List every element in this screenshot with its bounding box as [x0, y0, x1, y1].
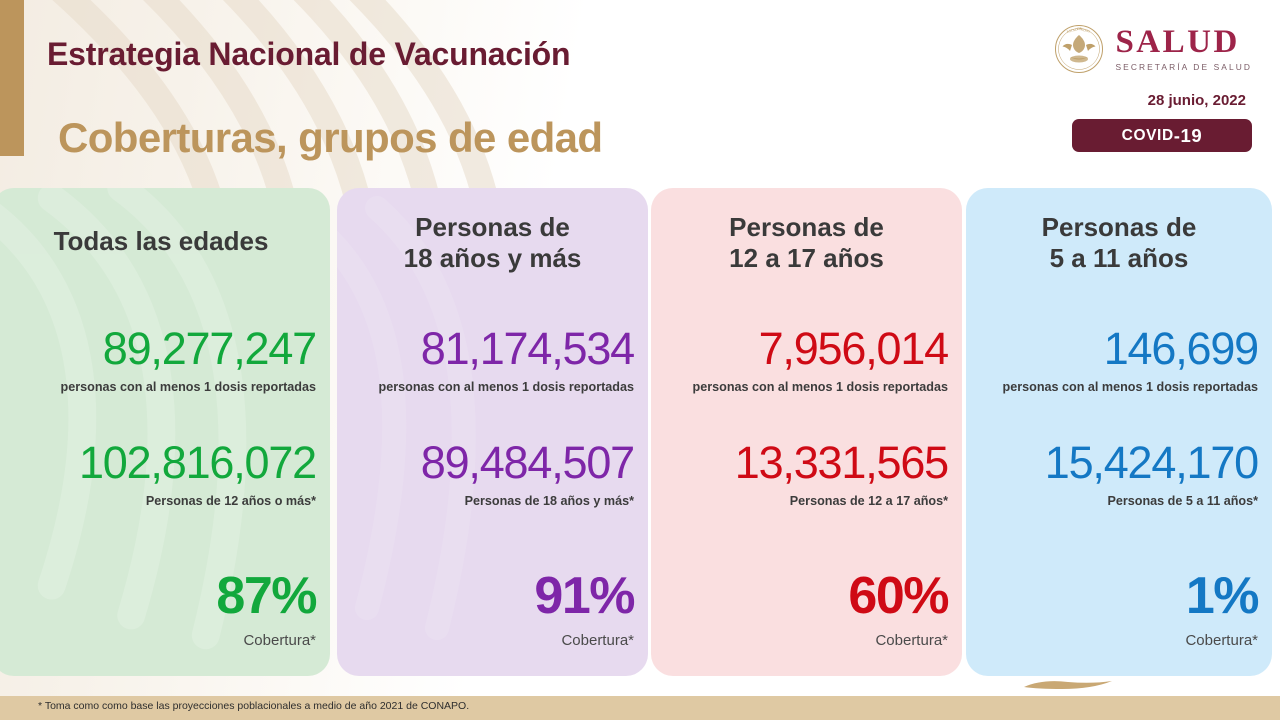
page-header: Estrategia Nacional de Vacunación Cobert…: [0, 0, 1280, 182]
salud-wordmark: SALUD: [1115, 26, 1252, 59]
page-title: Estrategia Nacional de Vacunación: [47, 36, 570, 73]
card-title-line-2: 5 a 11 años: [1050, 243, 1189, 273]
population-caption: Personas de 12 a 17 años*: [790, 494, 948, 510]
page-subtitle: Coberturas, grupos de edad: [58, 114, 603, 162]
doses-number: 81,174,534: [421, 326, 634, 371]
coverage-label: Cobertura*: [561, 632, 634, 649]
logo-block: ESTADOS UNIDOS SALUD SECRETARÍA DE SALUD…: [1022, 24, 1252, 152]
badge-suffix: -19: [1174, 125, 1203, 147]
footer-bar: * Toma como como base las proyecciones p…: [0, 696, 1280, 720]
card-title: Personas de 12 a 17 años: [665, 212, 948, 273]
card-title-line-1: Personas de: [1042, 212, 1197, 242]
doses-caption: personas con al menos 1 dosis reportadas: [379, 380, 634, 396]
coverage-label: Cobertura*: [243, 632, 316, 649]
coverage-percent: 60%: [848, 570, 948, 622]
card-18-anos-y-mas: Personas de 18 años y más 81,174,534 per…: [337, 188, 648, 676]
card-12-a-17-anos: Personas de 12 a 17 años 7,956,014 perso…: [651, 188, 962, 676]
card-5-a-11-anos: Personas de 5 a 11 años 146,699 personas…: [966, 188, 1272, 676]
card-title-line-1: Personas de: [415, 212, 570, 242]
doses-caption: personas con al menos 1 dosis reportadas: [61, 380, 316, 396]
report-date: 28 junio, 2022: [1022, 92, 1252, 109]
card-title: Personas de 18 años y más: [351, 212, 634, 273]
coverage-percent: 91%: [534, 570, 634, 622]
doses-caption: personas con al menos 1 dosis reportadas: [1003, 380, 1258, 396]
population-caption: Personas de 5 a 11 años*: [1107, 494, 1258, 510]
card-title: Personas de 5 a 11 años: [980, 212, 1258, 273]
footnote: * Toma como como base las proyecciones p…: [38, 700, 469, 712]
card-title-line-1: Personas de: [729, 212, 884, 242]
decorative-sliver-icon: [1022, 678, 1114, 690]
population-caption: Personas de 12 años o más*: [146, 494, 316, 510]
card-title: Todas las edades: [6, 226, 316, 257]
coverage-percent: 1%: [1186, 570, 1258, 622]
doses-number: 89,277,247: [103, 326, 316, 371]
doses-number: 7,956,014: [759, 326, 948, 371]
mexican-coat-of-arms-icon: ESTADOS UNIDOS: [1053, 24, 1105, 74]
salud-sub-wordmark: SECRETARÍA DE SALUD: [1115, 62, 1252, 72]
card-title-line-2: 18 años y más: [404, 243, 582, 273]
status-badge: COVID-19: [1072, 119, 1252, 152]
salud-wordmark-group: SALUD SECRETARÍA DE SALUD: [1115, 26, 1252, 72]
salud-logo: ESTADOS UNIDOS SALUD SECRETARÍA DE SALUD: [1022, 24, 1252, 74]
population-number: 15,424,170: [1045, 440, 1258, 485]
cards-container: Todas las edades 89,277,247 personas con…: [0, 188, 1280, 676]
coverage-percent: 87%: [216, 570, 316, 622]
doses-number: 146,699: [1104, 326, 1258, 371]
population-number: 89,484,507: [421, 440, 634, 485]
population-number: 102,816,072: [79, 440, 316, 485]
card-todas-las-edades: Todas las edades 89,277,247 personas con…: [0, 188, 330, 676]
coverage-label: Cobertura*: [875, 632, 948, 649]
population-caption: Personas de 18 años y más*: [465, 494, 634, 510]
card-title-line-2: 12 a 17 años: [729, 243, 884, 273]
population-number: 13,331,565: [735, 440, 948, 485]
doses-caption: personas con al menos 1 dosis reportadas: [693, 380, 948, 396]
badge-prefix: COVID: [1122, 127, 1174, 145]
coverage-label: Cobertura*: [1185, 632, 1258, 649]
